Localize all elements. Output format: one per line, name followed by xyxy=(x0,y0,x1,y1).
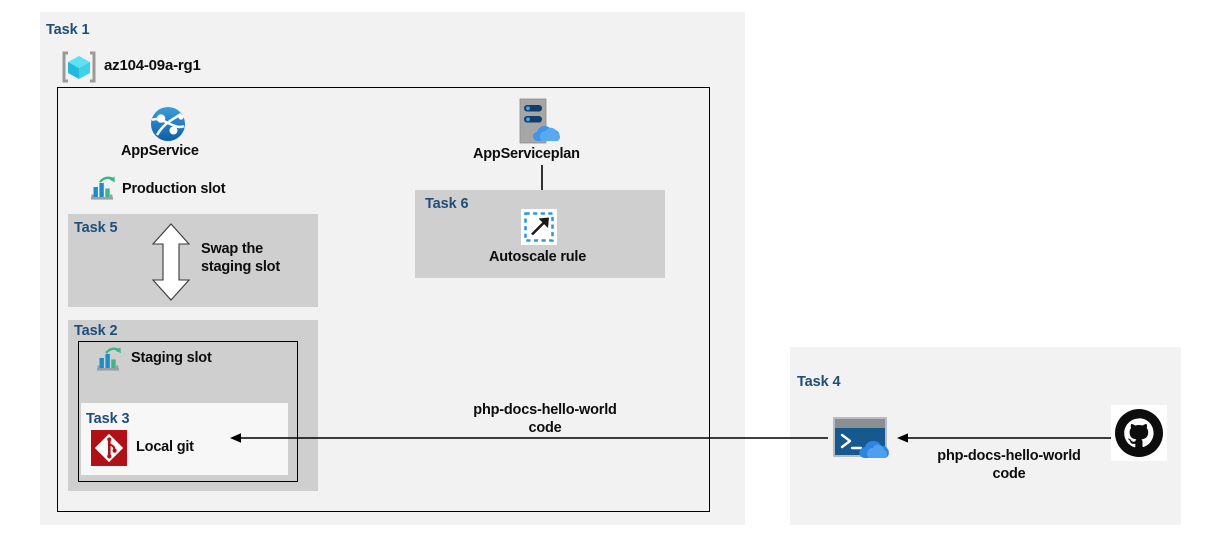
task2-label: Task 2 xyxy=(74,323,117,339)
appservice-label: AppService xyxy=(121,143,199,159)
task3-label: Task 3 xyxy=(86,411,129,427)
arrow-cloudshell-to-localgit xyxy=(228,430,828,446)
task5-label: Task 5 xyxy=(74,220,117,236)
task1-label: Task 1 xyxy=(46,22,89,38)
task6-label: Task 6 xyxy=(425,196,468,212)
git-repository-icon xyxy=(91,430,127,466)
production-slot-label: Production slot xyxy=(122,181,225,197)
app-service-plan-server-cloud-icon xyxy=(512,97,570,149)
arrow-github-to-cloudshell xyxy=(895,430,1111,446)
cloud-shell-terminal-icon xyxy=(831,415,899,461)
swap-staging-slot-label: Swap the staging slot xyxy=(201,241,311,276)
local-git-label: Local git xyxy=(136,439,194,455)
swap-double-arrow-icon xyxy=(148,222,194,302)
autoscale-rule-label: Autoscale rule xyxy=(489,249,586,265)
staging-slot-label: Staging slot xyxy=(131,350,212,366)
app-service-globe-icon xyxy=(148,104,188,144)
swap-label-line1: Swap the xyxy=(201,241,263,257)
task4-label: Task 4 xyxy=(797,374,840,390)
diagram-canvas: Task 1 az104-09a-rg1 xyxy=(0,0,1218,545)
github-octocat-icon xyxy=(1111,405,1167,461)
code-label-right-line1: php-docs-hello-world xyxy=(937,448,1080,464)
appserviceplan-label: AppServiceplan xyxy=(473,146,580,162)
code-label-left-line1: php-docs-hello-world xyxy=(473,402,616,418)
resource-group-cube-icon xyxy=(60,48,98,86)
deployment-slot-bars-icon xyxy=(88,175,118,203)
deployment-slot-bars-icon xyxy=(94,346,124,374)
code-label-right-line2: code xyxy=(992,466,1025,482)
swap-label-line2: staging slot xyxy=(201,259,280,275)
resource-group-name: az104-09a-rg1 xyxy=(104,57,201,74)
autoscale-arrow-icon xyxy=(521,209,557,245)
code-label-task4: php-docs-hello-world code xyxy=(909,448,1109,483)
